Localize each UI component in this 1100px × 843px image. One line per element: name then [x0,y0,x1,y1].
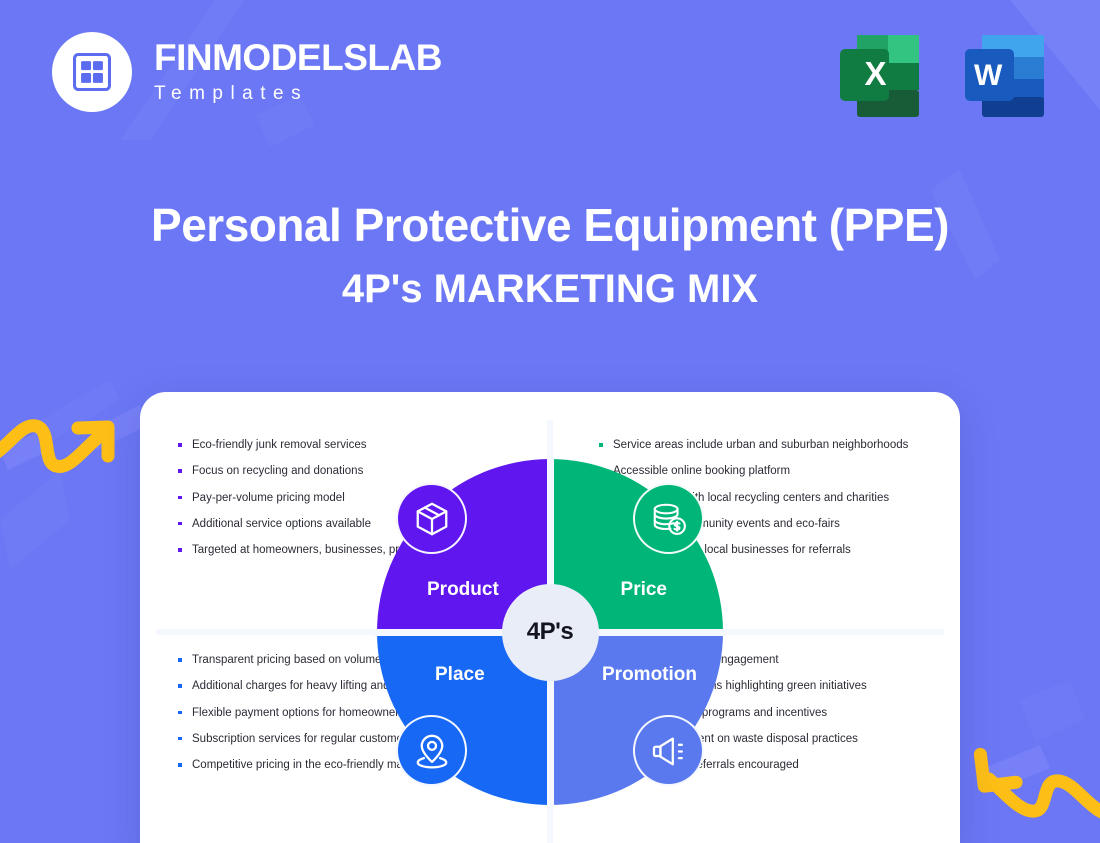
marketing-mix-card: Eco-friendly junk removal services Focus… [140,392,960,843]
wheel-label-price: Price [621,579,667,601]
logo-text: FINMODELSLAB Templates [154,39,442,105]
location-pin-icon[interactable] [396,715,467,786]
wheel-label-place: Place [435,664,485,686]
excel-icon[interactable]: X [832,27,927,122]
list-item: Service areas include urban and suburban… [599,438,922,453]
title-line-1: Personal Protective Equipment (PPE) [0,196,1100,255]
svg-text:X: X [865,55,887,92]
grid-squares-icon [73,53,111,91]
wheel-label-product: Product [427,579,499,601]
box-icon[interactable] [396,483,467,554]
logo-badge [52,32,132,112]
arrow-left-svg [0,400,130,495]
list-item: Eco-friendly junk removal services [178,438,501,453]
title-line-2: 4P's MARKETING MIX [0,263,1100,315]
brand-logo[interactable]: FINMODELSLAB Templates [52,32,442,112]
location-pin-icon-svg [413,732,451,770]
page-title: Personal Protective Equipment (PPE) 4P's… [0,196,1100,315]
wheel-center-hub: 4P's [502,584,599,681]
box-icon-svg [413,500,451,538]
file-format-icons: X W [832,27,1052,122]
coins-dollar-icon[interactable] [633,483,704,554]
squiggle-arrow-down-left-icon [965,735,1100,840]
arrow-right-svg [965,735,1100,840]
megaphone-icon-svg [650,732,688,770]
brand-tagline: Templates [154,83,442,105]
word-icon-svg: W [957,27,1052,122]
coins-dollar-icon-svg [650,500,688,538]
squiggle-arrow-up-right-icon [0,400,130,495]
megaphone-icon[interactable] [633,715,704,786]
wheel-center-label: 4P's [527,618,573,646]
excel-icon-svg: X [832,27,927,122]
wheel-label-promotion: Promotion [602,664,697,686]
word-icon[interactable]: W [957,27,1052,122]
four-ps-wheel: Product Price Place Promotion [377,459,723,805]
page-header: FINMODELSLAB Templates X W [0,0,1100,150]
svg-text:W: W [974,59,1003,92]
brand-name: FINMODELSLAB [154,39,442,76]
card-inner-surface: Eco-friendly junk removal services Focus… [156,420,944,843]
